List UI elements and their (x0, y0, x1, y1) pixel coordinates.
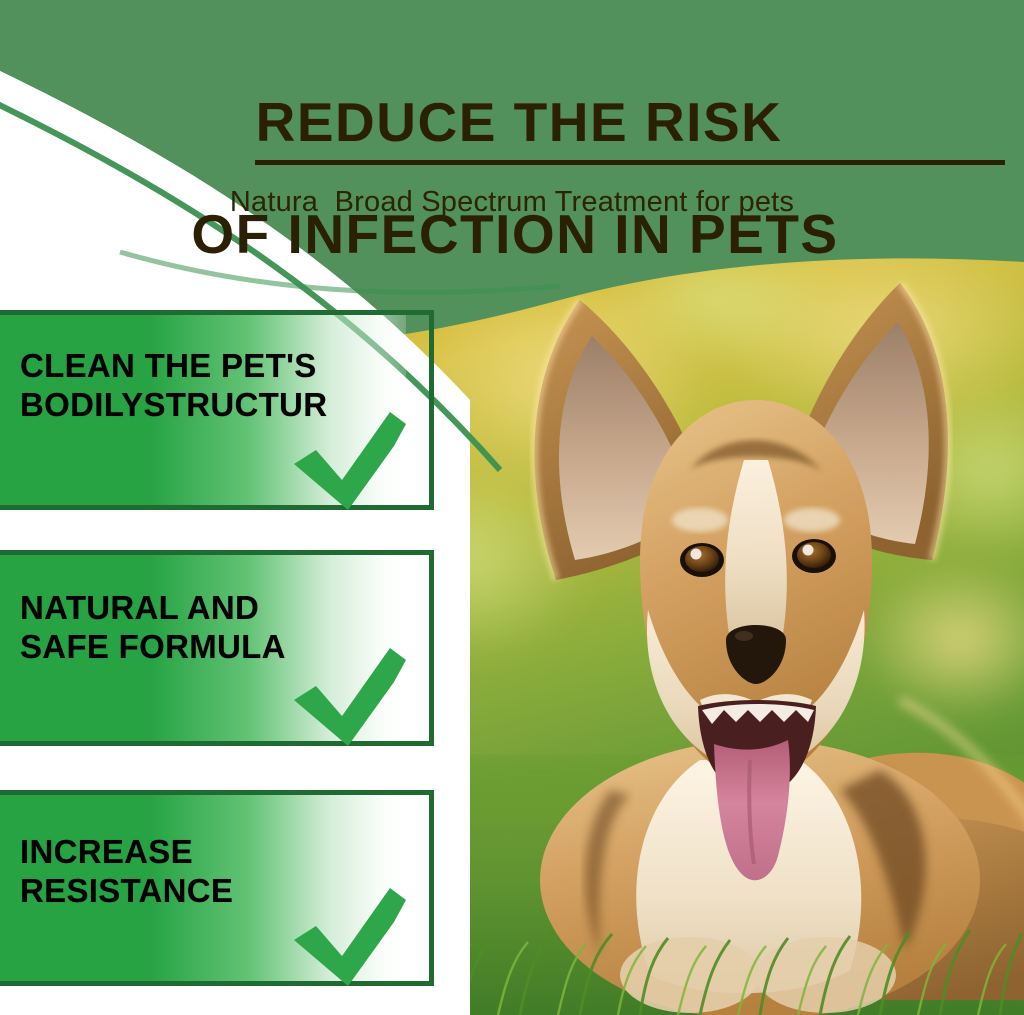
feature-box-increase-resistance[interactable]: INCREASE RESISTANCE (0, 790, 434, 986)
headline-divider (255, 160, 1005, 165)
feature-box-natural-safe-formula[interactable]: NATURAL AND SAFE FORMULA (0, 550, 434, 746)
poster-canvas: REDUCE THE RISK OF INFECTION IN PETS Nat… (0, 0, 1024, 1015)
subtitle: Natura Broad Spectrum Treatment for pets (0, 186, 1024, 219)
feature-box-clean-bodily-structure[interactable]: CLEAN THE PET'S BODILYSTRUCTUR (0, 310, 434, 510)
feature-label: NATURAL AND SAFE FORMULA (20, 589, 286, 667)
checkmark-icon (290, 406, 410, 516)
checkmark-icon (290, 882, 410, 992)
checkmark-icon (290, 642, 410, 752)
feature-label: CLEAN THE PET'S BODILYSTRUCTUR (20, 347, 327, 425)
feature-label: INCREASE RESISTANCE (20, 833, 233, 911)
